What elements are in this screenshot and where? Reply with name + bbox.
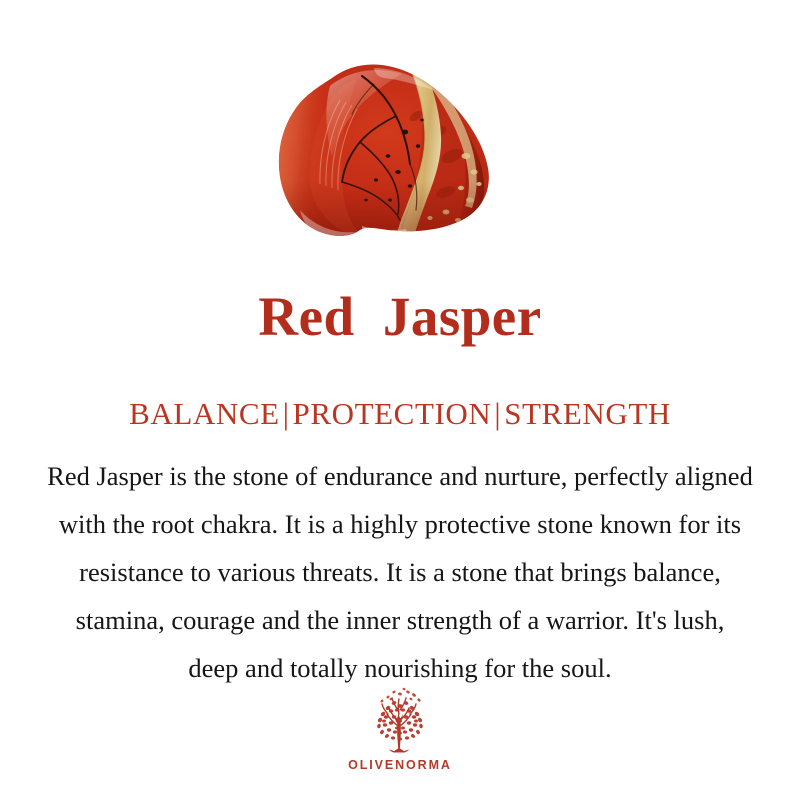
description-line: stamina, courage and the inner strength … [12, 596, 788, 644]
attribute-separator-2: | [491, 396, 504, 431]
attribute-separator-1: | [280, 396, 293, 431]
product-description: Red Jasper is the stone of endurance and… [12, 452, 788, 692]
attributes-tagline: BALANCE|PROTECTION|STRENGTH [0, 396, 800, 432]
attribute-balance: BALANCE [129, 396, 280, 431]
description-line: with the root chakra. It is a highly pro… [12, 500, 788, 548]
red-jasper-product-card: Red Jasper BALANCE|PROTECTION|STRENGTH R… [0, 0, 800, 800]
tree-of-life-icon [364, 686, 436, 756]
attribute-protection: PROTECTION [293, 396, 492, 431]
brand-logo: OLIVENORMA [0, 686, 800, 772]
description-line: Red Jasper is the stone of endurance and… [12, 452, 788, 500]
product-title: Red Jasper [0, 286, 800, 348]
red-jasper-stone-image [270, 60, 530, 250]
product-image-container [0, 60, 800, 250]
attribute-strength: STRENGTH [504, 396, 671, 431]
description-line: deep and totally nourishing for the soul… [12, 644, 788, 692]
brand-wordmark: OLIVENORMA [0, 758, 800, 772]
description-line: resistance to various threats. It is a s… [12, 548, 788, 596]
